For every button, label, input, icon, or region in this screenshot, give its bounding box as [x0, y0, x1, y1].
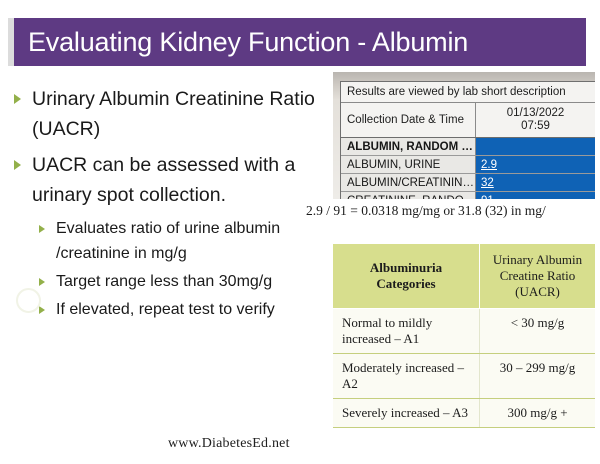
bullet-list: Urinary Albumin Creatinine Ratio (UACR) …: [6, 84, 324, 325]
lab-row-name: ALBUMIN, URINE: [341, 156, 476, 173]
lab-header-datetime: 01/13/2022 07:59: [476, 103, 595, 137]
table-row: Normal to mildly increased – A1 < 30 mg/…: [333, 309, 595, 354]
lab-note-text: Results are viewed by lab short descript…: [341, 82, 595, 103]
bullet-item-2: UACR can be assessed with a urinary spot…: [6, 150, 324, 210]
cell-uacr: 300 mg/g +: [480, 399, 596, 428]
sub-bullet-item-1: Evaluates ratio of urine albumin /creati…: [6, 216, 324, 266]
sub-bullet-item-1-label: Evaluates ratio of urine albumin /creati…: [56, 220, 280, 262]
table-header-row: Albuminuria Categories Urinary Albumin C…: [333, 244, 595, 309]
lab-row-value: 2.9: [476, 156, 595, 173]
lab-row-value-link[interactable]: 32: [481, 177, 494, 189]
lab-header-label: Collection Date & Time: [341, 103, 476, 137]
sub-bullet-item-3: If elevated, repeat test to verify: [6, 297, 324, 322]
triangle-bullet-icon: [39, 278, 45, 286]
table-row: Severely increased – A3 300 mg/g +: [333, 399, 595, 428]
lab-table-row[interactable]: CREATININE, RANDO… 91: [341, 192, 595, 199]
sub-bullet-item-3-label: If elevated, repeat test to verify: [56, 301, 275, 318]
cell-category: Severely increased – A3: [333, 399, 480, 428]
cell-uacr: 30 – 299 mg/g: [480, 354, 596, 399]
lab-header-time: 07:59: [521, 120, 550, 133]
lab-row-value-link[interactable]: 2.9: [481, 159, 497, 171]
triangle-bullet-icon: [14, 160, 21, 170]
sub-bullet-item-2: Target range less than 30mg/g: [6, 269, 324, 294]
lab-row-value: 91: [476, 192, 595, 199]
lab-header-date: 01/13/2022: [507, 107, 565, 120]
lab-row-name: ALBUMIN, RANDOM …: [341, 138, 476, 155]
table-row: Moderately increased – A2 30 – 299 mg/g: [333, 354, 595, 399]
page-title: Evaluating Kidney Function - Albumin: [28, 18, 588, 66]
triangle-bullet-icon: [39, 306, 45, 314]
cell-uacr: < 30 mg/g: [480, 309, 596, 354]
bullet-item-2-label: UACR can be assessed with a urinary spot…: [32, 154, 295, 206]
lab-calculation-caption: 2.9 / 91 = 0.0318 mg/mg or 31.8 (32) in …: [306, 203, 600, 219]
cell-category: Normal to mildly increased – A1: [333, 309, 480, 354]
lab-table-row[interactable]: ALBUMIN/CREATININ… 32: [341, 174, 595, 192]
lab-results-photo: Results are viewed by lab short descript…: [333, 72, 595, 199]
lab-table-header-row: Collection Date & Time 01/13/2022 07:59: [341, 103, 595, 138]
decorative-ring-icon: [16, 288, 41, 313]
lab-table-row[interactable]: ALBUMIN, URINE 2.9: [341, 156, 595, 174]
column-header-category: Albuminuria Categories: [333, 244, 480, 309]
lab-row-name: CREATININE, RANDO…: [341, 192, 476, 199]
lab-results-screen: Results are viewed by lab short descript…: [340, 81, 595, 199]
lab-table-row[interactable]: ALBUMIN, RANDOM …: [341, 138, 595, 156]
lab-row-value-text: 91: [481, 195, 494, 200]
bullet-item-1-label: Urinary Albumin Creatinine Ratio (UACR): [32, 88, 315, 140]
lab-row-name: ALBUMIN/CREATININ…: [341, 174, 476, 191]
sub-bullet-item-2-label: Target range less than 30mg/g: [56, 273, 272, 290]
slide-canvas: Evaluating Kidney Function - Albumin Uri…: [0, 0, 600, 464]
lab-row-value: [476, 138, 595, 155]
triangle-bullet-icon: [14, 94, 21, 104]
bullet-item-1: Urinary Albumin Creatinine Ratio (UACR): [6, 84, 324, 144]
lab-row-value: 32: [476, 174, 595, 191]
cell-category: Moderately increased – A2: [333, 354, 480, 399]
column-header-uacr: Urinary Albumin Creatine Ratio (UACR): [480, 244, 596, 309]
albuminuria-categories-table: Albuminuria Categories Urinary Albumin C…: [333, 244, 595, 428]
triangle-bullet-icon: [39, 225, 45, 233]
site-watermark: www.DiabetesEd.net: [168, 436, 290, 452]
